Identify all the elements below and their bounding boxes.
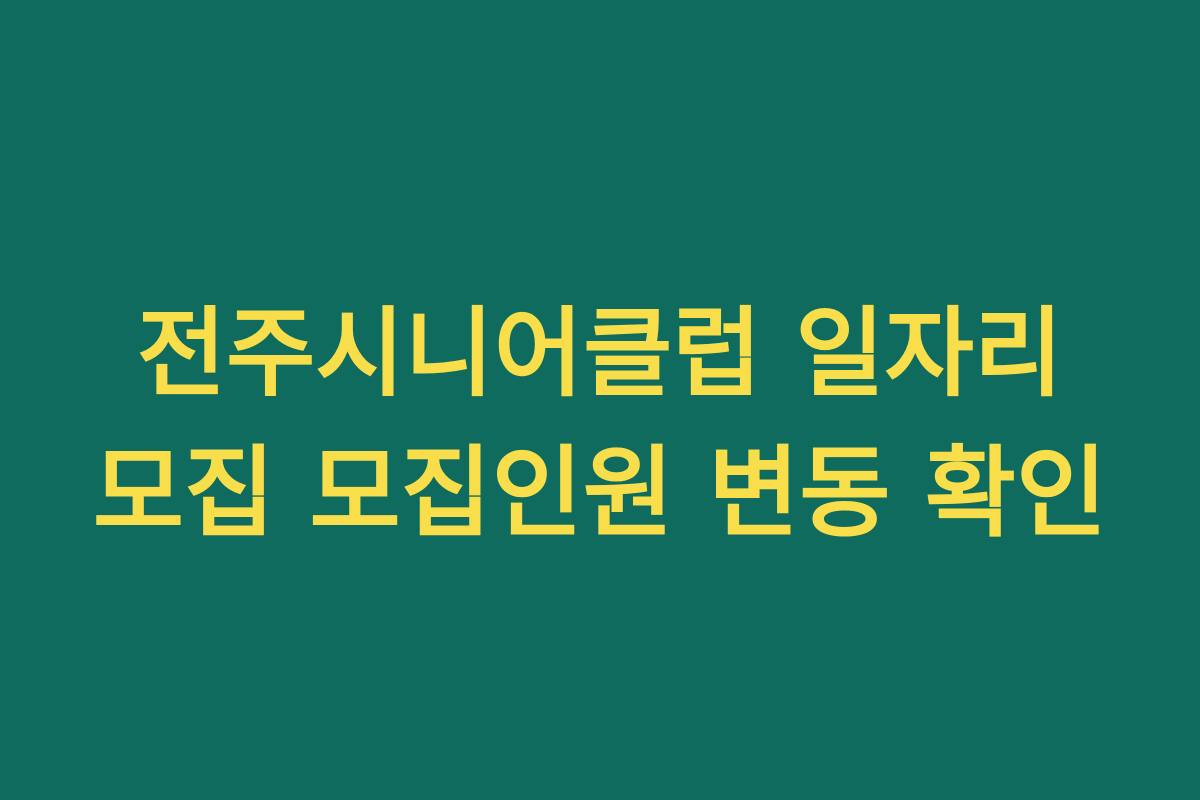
- banner-card: 전주시니어클럽 일자리 모집 모집인원 변동 확인: [0, 0, 1200, 800]
- banner-title-block: 전주시니어클럽 일자리 모집 모집인원 변동 확인: [0, 284, 1200, 564]
- banner-title-line-2: 모집 모집인원 변동 확인: [0, 424, 1200, 564]
- banner-title-line-1: 전주시니어클럽 일자리: [0, 284, 1200, 424]
